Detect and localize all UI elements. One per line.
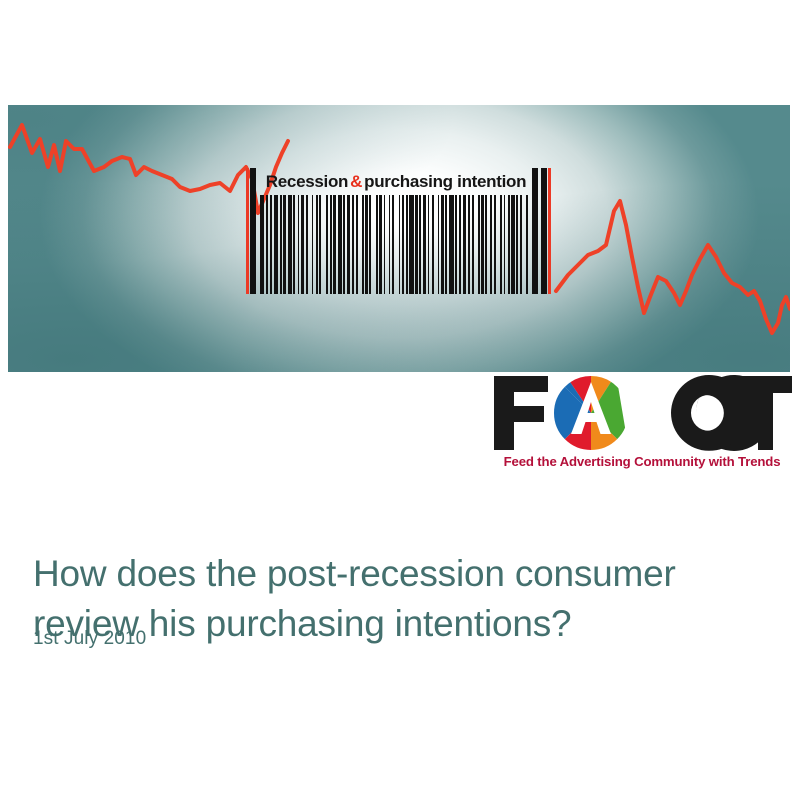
barcode-label-suffix: purchasing intention	[364, 172, 526, 192]
barcode-label-ampersand: &	[348, 172, 364, 192]
logo-letter-f	[494, 376, 548, 450]
slide-root: Recession & purchasing intention	[0, 0, 800, 800]
fact-wordmark	[490, 372, 792, 454]
barcode-guard-right-2	[541, 168, 547, 294]
trend-line-right	[556, 201, 790, 333]
barcode-label: Recession & purchasing intention	[262, 170, 530, 194]
barcode-guard-left	[250, 168, 256, 294]
barcode-label-prefix: Recession	[266, 172, 348, 192]
logo-circle-a-mark	[553, 372, 629, 454]
barcode-guard-right-1	[532, 168, 538, 294]
presentation-date: 1st July 2010	[33, 628, 146, 650]
logo-tagline: Feed the Advertising Community with Tren…	[492, 454, 792, 469]
barcode-space	[528, 195, 531, 294]
page-title-line-1: How does the post-recession consumer	[33, 549, 763, 599]
fact-logo: Feed the Advertising Community with Tren…	[490, 372, 792, 476]
barcode-red-edge-left	[246, 168, 249, 294]
barcode-red-edge-right	[548, 168, 551, 294]
barcode-bars	[260, 195, 530, 294]
barcode-graphic: Recession & purchasing intention	[246, 168, 556, 294]
